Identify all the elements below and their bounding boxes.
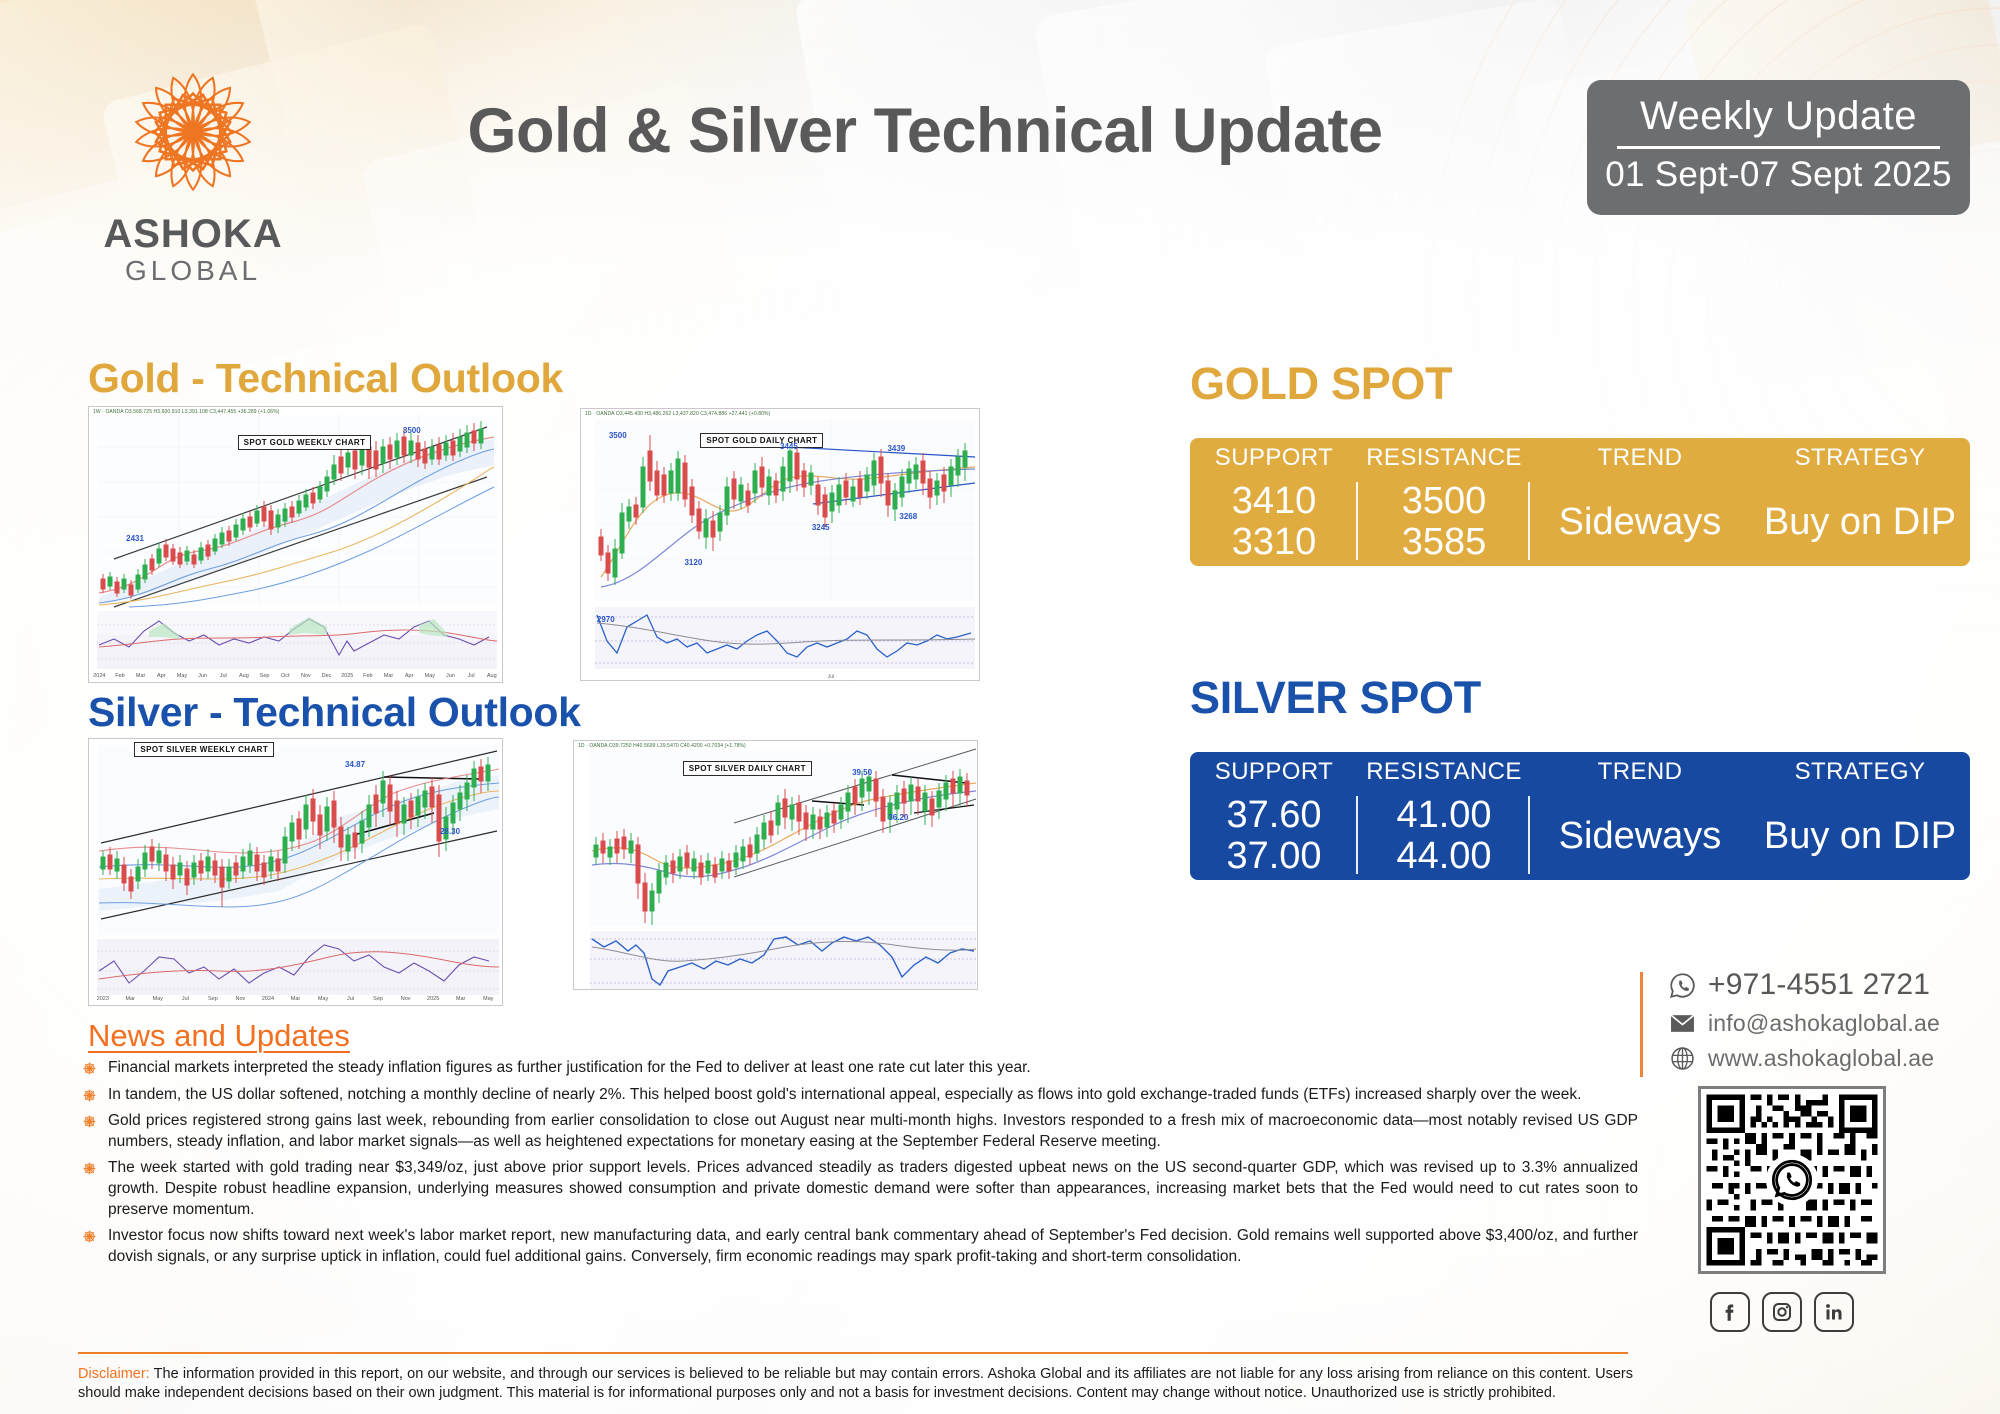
svg-text:Jul: Jul [828, 674, 834, 680]
disclaimer-divider [78, 1352, 1628, 1354]
gold-outlook-heading: Gold - Technical Outlook [88, 355, 563, 402]
silver-trend-value: Sideways [1530, 792, 1750, 880]
globe-icon [1668, 1044, 1696, 1072]
chart-canvas [89, 739, 503, 1006]
chart-price-tag: 3500 [609, 431, 627, 440]
news-text: Gold prices registered strong gains last… [108, 1111, 1638, 1152]
news-text: Investor focus now shifts toward next we… [108, 1226, 1638, 1267]
news-item: Investor focus now shifts toward next we… [78, 1226, 1638, 1267]
silver-col-support-header: SUPPORT [1190, 752, 1358, 792]
disclaimer: Disclaimer: The information provided in … [78, 1365, 1633, 1403]
mandala-bullet-icon [83, 1115, 96, 1128]
chart-price-tag: 3245 [812, 523, 830, 532]
chart-x-axis: 2023Mar MayJul SepNov 2024Mar MayJul Sep… [89, 993, 502, 1004]
brand-name: ASHOKA [88, 214, 298, 254]
mandala-bullet-icon [83, 1230, 96, 1243]
gold-col-strategy-header: STRATEGY [1750, 438, 1970, 478]
linkedin-icon[interactable] [1814, 1292, 1854, 1332]
contact-divider [1640, 972, 1643, 1077]
weekly-update-badge: Weekly Update 01 Sept-07 Sept 2025 [1587, 80, 1970, 215]
website-url: www.ashokaglobal.ae [1708, 1045, 1934, 1072]
mandala-bullet-icon [83, 1162, 96, 1175]
chart-price-tag: 28.30 [440, 827, 460, 836]
chart-title-label: SPOT SILVER WEEKLY CHART [134, 742, 274, 757]
qr-code[interactable] [1698, 1086, 1886, 1274]
chart-price-tag: 36.20 [888, 813, 908, 822]
phone-number: +971-4551 2721 [1708, 968, 1930, 1002]
chart-tv-header: 1D · OANDA O39.7250 H40.5699 L39.5470 C4… [578, 743, 746, 749]
disclaimer-text: The information provided in this report,… [78, 1366, 1633, 1401]
news-list: Financial markets interpreted the steady… [78, 1058, 1638, 1273]
chart-price-tag: 3268 [899, 512, 917, 521]
news-item: The week started with gold trading near … [78, 1158, 1638, 1220]
contact-email-row[interactable]: info@ashokaglobal.ae [1668, 1009, 1988, 1037]
news-text: The week started with gold trading near … [108, 1158, 1638, 1220]
news-heading: News and Updates [88, 1018, 350, 1054]
gold-support-values: 3410 3310 [1190, 478, 1358, 566]
gold-trend-value: Sideways [1530, 478, 1750, 566]
contact-block: +971-4551 2721 info@ashokaglobal.ae [1668, 968, 1988, 1079]
envelope-icon [1668, 1009, 1696, 1037]
instagram-icon[interactable] [1762, 1292, 1802, 1332]
news-text: Financial markets interpreted the steady… [108, 1058, 1638, 1079]
silver-col-trend-header: TREND [1530, 752, 1750, 792]
brand-logo: ASHOKA GLOBAL [88, 52, 298, 288]
chart-price-tag: 3445 [780, 442, 798, 451]
news-text: In tandem, the US dollar softened, notch… [108, 1085, 1638, 1106]
gold-col-support-header: SUPPORT [1190, 438, 1358, 478]
badge-date-range: 01 Sept-07 Sept 2025 [1587, 155, 1970, 195]
silver-col-resistance-header: RESISTANCE [1358, 752, 1530, 792]
disclaimer-label: Disclaimer: [78, 1366, 150, 1382]
email-address: info@ashokaglobal.ae [1708, 1010, 1940, 1037]
chart-gold-weekly[interactable]: 1W · OANDA O3,568.725 H3,600.910 L3,391.… [88, 406, 503, 683]
whatsapp-icon [1668, 971, 1696, 999]
gold-resistance-values: 3500 3585 [1358, 478, 1530, 566]
chart-price-tag: 39.50 [852, 768, 872, 777]
gold-strategy-value: Buy on DIP [1750, 478, 1970, 566]
silver-outlook-heading: Silver - Technical Outlook [88, 689, 581, 736]
contact-website-row[interactable]: www.ashokaglobal.ae [1668, 1044, 1988, 1072]
badge-divider [1617, 146, 1940, 149]
chart-gold-daily[interactable]: 1D · OANDA O3,445.430 H3,486.262 L3,437.… [580, 408, 980, 681]
chart-silver-weekly[interactable]: SPOT SILVER WEEKLY CHART 34.87 28.30 [88, 738, 503, 1006]
news-item: Financial markets interpreted the steady… [78, 1058, 1638, 1079]
gold-spot-heading: GOLD SPOT [1190, 358, 1452, 410]
chart-tv-header: 1W · OANDA O3,568.725 H3,600.910 L3,391.… [93, 409, 279, 415]
chart-title-label: SPOT SILVER DAILY CHART [683, 761, 812, 776]
chart-canvas [574, 741, 978, 990]
chart-price-tag: 3439 [887, 444, 905, 453]
contact-phone-row[interactable]: +971-4551 2721 [1668, 968, 1988, 1002]
chart-price-tag: 2431 [126, 534, 144, 543]
silver-spot-table: SUPPORT RESISTANCE TREND STRATEGY 37.60 … [1190, 752, 1970, 880]
chart-title-label: SPOT GOLD WEEKLY CHART [238, 435, 372, 450]
chart-tv-header: 1D · OANDA O3,445.430 H3,486.262 L3,437.… [585, 411, 770, 417]
chart-price-tag: 34.87 [345, 760, 365, 769]
mandala-bullet-icon [83, 1089, 96, 1102]
chart-price-tag: 2970 [597, 615, 615, 624]
mandala-bullet-icon [83, 1062, 96, 1075]
brand-subtitle: GLOBAL [88, 254, 298, 288]
chart-title-label: SPOT GOLD DAILY CHART [700, 433, 823, 448]
chart-price-tag: 3500 [403, 426, 421, 435]
silver-col-strategy-header: STRATEGY [1750, 752, 1970, 792]
news-item: In tandem, the US dollar softened, notch… [78, 1085, 1638, 1106]
page-title: Gold & Silver Technical Update [380, 95, 1470, 167]
gold-spot-table: SUPPORT RESISTANCE TREND STRATEGY 3410 3… [1190, 438, 1970, 566]
chart-price-tag: 3120 [684, 558, 702, 567]
mandala-flower-icon [113, 52, 273, 212]
badge-title: Weekly Update [1587, 94, 1970, 138]
chart-x-axis: 2024Feb MarApr MayJun JulAug SepOct NovD… [89, 670, 502, 681]
whatsapp-icon [1766, 1154, 1818, 1206]
silver-strategy-value: Buy on DIP [1750, 792, 1970, 880]
gold-col-trend-header: TREND [1530, 438, 1750, 478]
social-links [1710, 1292, 1854, 1332]
news-item: Gold prices registered strong gains last… [78, 1111, 1638, 1152]
chart-silver-daily[interactable]: 1D · OANDA O39.7250 H40.5699 L39.5470 C4… [573, 740, 978, 990]
silver-spot-heading: SILVER SPOT [1190, 672, 1481, 724]
silver-support-values: 37.60 37.00 [1190, 792, 1358, 880]
facebook-icon[interactable] [1710, 1292, 1750, 1332]
gold-col-resistance-header: RESISTANCE [1358, 438, 1530, 478]
silver-resistance-values: 41.00 44.00 [1358, 792, 1530, 880]
